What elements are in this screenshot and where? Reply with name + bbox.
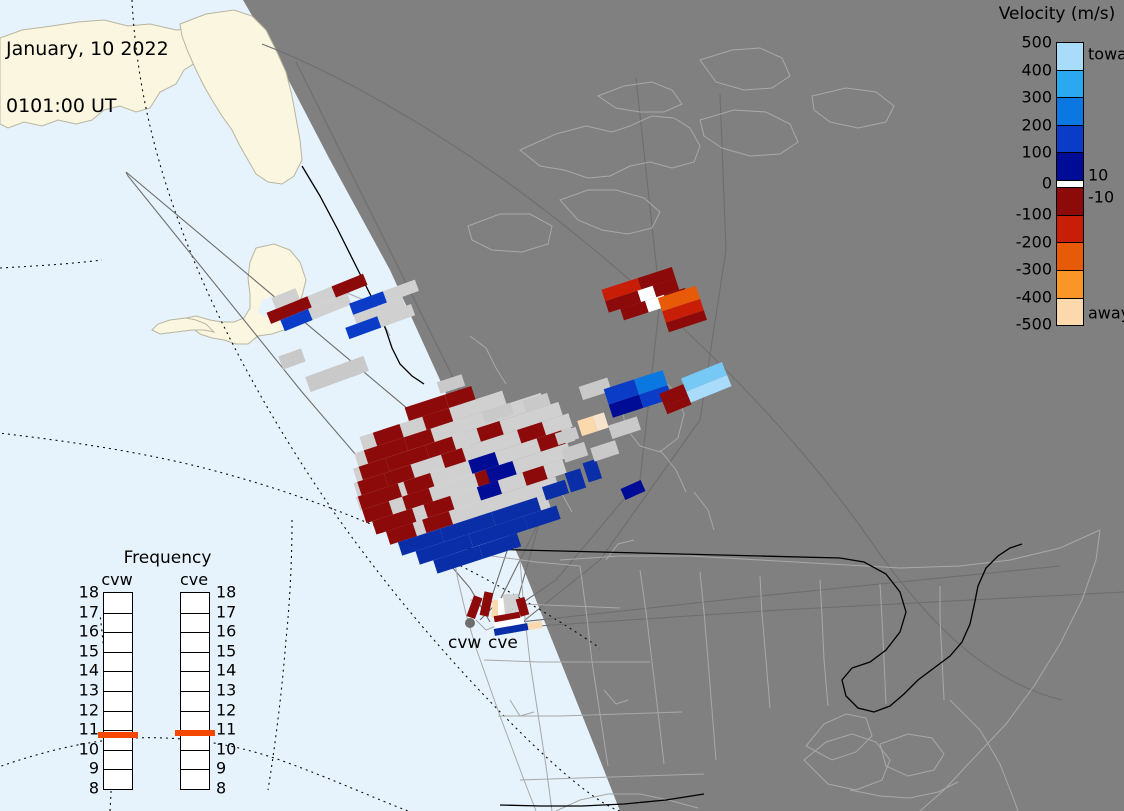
colorbar-tick: 300: [1021, 88, 1052, 107]
colorbar-segment: [1057, 242, 1083, 270]
frequency-marker: [175, 730, 215, 736]
frequency-tick: 11: [216, 720, 236, 739]
frequency-tick: 16: [75, 622, 99, 641]
frequency-cell: [181, 613, 209, 633]
colorbar-gradient: [1056, 42, 1084, 326]
colorbar-tick: 0: [1042, 174, 1052, 193]
site-label-cvw: cvw: [448, 633, 481, 653]
frequency-cell: [181, 711, 209, 731]
frequency-marker: [98, 732, 138, 738]
colorbar-label-minus10: -10: [1088, 188, 1114, 207]
colorbar-label-plus10: 10: [1088, 166, 1108, 185]
frequency-cell: [104, 769, 132, 789]
colorbar-segment: [1057, 97, 1083, 125]
frequency-tick: 16: [216, 622, 236, 641]
frequency-tick: 8: [75, 779, 99, 798]
colorbar-tick: 200: [1021, 115, 1052, 134]
frequency-tick: 18: [216, 583, 236, 602]
frequency-cell: [181, 593, 209, 613]
colorbar-segment: [1057, 215, 1083, 243]
colorbar-segment: [1057, 152, 1083, 180]
frequency-tick: 12: [75, 700, 99, 719]
frequency-cell: [104, 711, 132, 731]
frequency-tick: 15: [75, 641, 99, 660]
colorbar-tick: -500: [1016, 315, 1052, 334]
frequency-cell: [104, 671, 132, 691]
timestamp-block: January, 10 2022 0101:00 UT: [6, 2, 169, 154]
frequency-cell: [181, 632, 209, 652]
frequency-cell: [181, 671, 209, 691]
frequency-cell: [181, 750, 209, 770]
frequency-cell: [104, 652, 132, 672]
site-label-cve: cve: [488, 633, 518, 653]
colorbar-tick: 500: [1021, 33, 1052, 52]
colorbar-title: Velocity (m/s): [995, 4, 1119, 24]
frequency-tick: 13: [75, 681, 99, 700]
frequency-tick: 8: [216, 779, 226, 798]
colorbar-segment: [1057, 43, 1083, 70]
frequency-cell: [104, 613, 132, 633]
colorbar-label-away: away: [1088, 304, 1124, 323]
frequency-tick: 17: [75, 602, 99, 621]
frequency-tick: 18: [75, 583, 99, 602]
frequency-tick: 17: [216, 602, 236, 621]
frequency-tick: 10: [216, 739, 236, 758]
colorbar-label-toward: toward: [1088, 45, 1124, 64]
colorbar-tick: -200: [1016, 232, 1052, 251]
colorbar-segment: [1057, 180, 1083, 188]
frequency-legend: Frequency cvw18171615141312111098cve1817…: [85, 548, 250, 793]
frequency-tick: 14: [75, 661, 99, 680]
frequency-tick: 12: [216, 700, 236, 719]
colorbar-tick: 100: [1021, 143, 1052, 162]
frequency-tick: 10: [75, 739, 99, 758]
frequency-cell: [181, 652, 209, 672]
colorbar-segment: [1057, 187, 1083, 215]
frequency-column-name: cve: [174, 570, 214, 589]
frequency-bar: [180, 592, 210, 790]
frequency-cell: [181, 691, 209, 711]
frequency-cell: [104, 750, 132, 770]
timestamp-date: January, 10 2022: [6, 40, 169, 59]
frequency-bar: [103, 592, 133, 790]
frequency-tick: 13: [216, 681, 236, 700]
colorbar-tick: -100: [1016, 205, 1052, 224]
colorbar-segment: [1057, 70, 1083, 98]
frequency-tick: 11: [75, 720, 99, 739]
frequency-tick: 14: [216, 661, 236, 680]
radar-map-canvas: January, 10 2022 0101:00 UT cvw cve Velo…: [0, 0, 1124, 811]
frequency-cell: [104, 593, 132, 613]
colorbar-tick: -300: [1016, 260, 1052, 279]
frequency-column-name: cvw: [97, 570, 137, 589]
frequency-legend-title: Frequency: [85, 548, 250, 568]
frequency-cell: [104, 632, 132, 652]
colorbar-tick: 400: [1021, 60, 1052, 79]
frequency-cell: [104, 691, 132, 711]
frequency-tick: 9: [75, 759, 99, 778]
colorbar-segment: [1057, 125, 1083, 153]
frequency-cell: [181, 769, 209, 789]
velocity-colorbar: Velocity (m/s) 5004003002001000-100-200-…: [1000, 4, 1124, 334]
timestamp-time: 0101:00 UT: [6, 97, 169, 116]
colorbar-segment: [1057, 298, 1083, 326]
frequency-tick: 9: [216, 759, 226, 778]
colorbar-tick: -400: [1016, 287, 1052, 306]
frequency-tick: 15: [216, 641, 236, 660]
colorbar-segment: [1057, 270, 1083, 298]
